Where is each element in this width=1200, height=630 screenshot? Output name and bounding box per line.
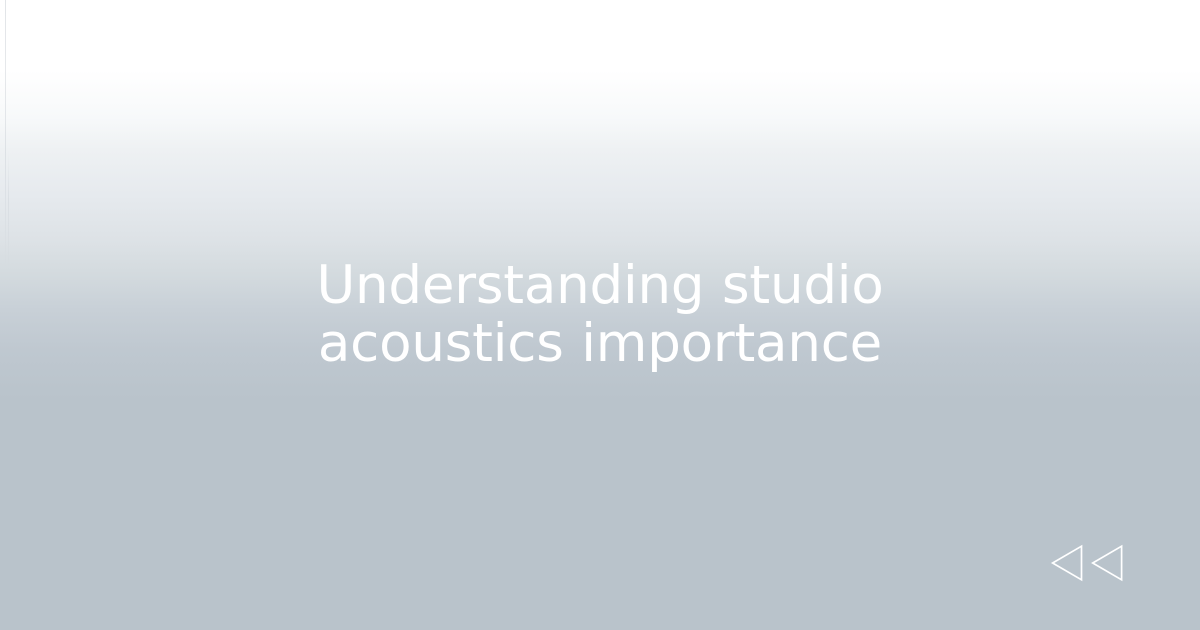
- rewind-triangle-1: [1053, 546, 1082, 580]
- title-container: Understanding studio acoustics importanc…: [0, 0, 1200, 630]
- page-title: Understanding studio acoustics importanc…: [195, 257, 1005, 373]
- hero-card: Understanding studio acoustics importanc…: [0, 0, 1200, 630]
- rewind-icon[interactable]: [1050, 544, 1126, 582]
- rewind-triangle-2: [1093, 546, 1122, 580]
